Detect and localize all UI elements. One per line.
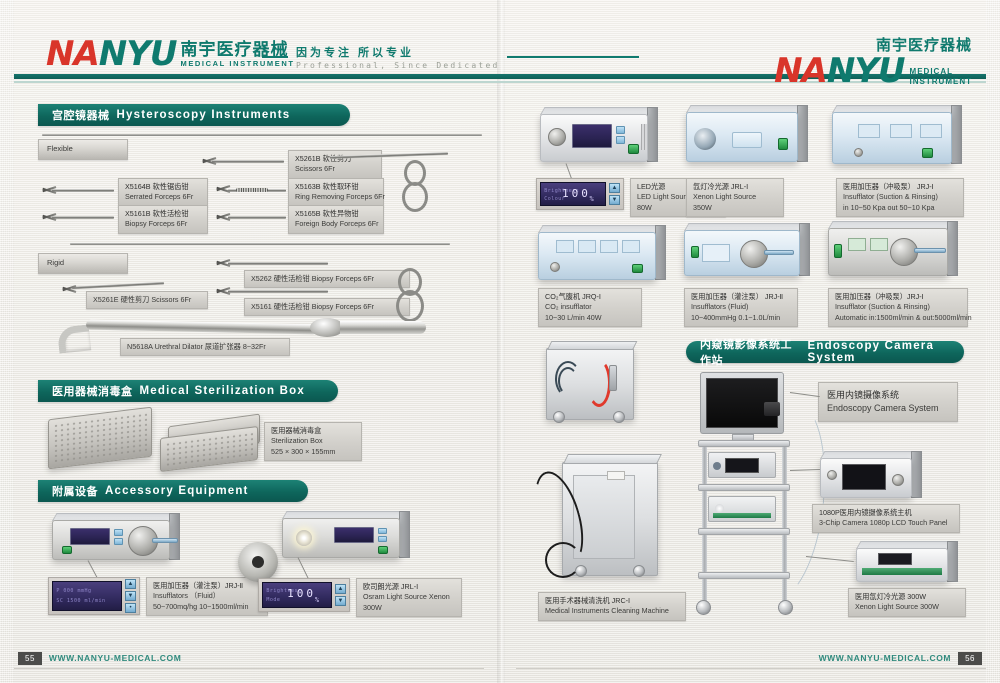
instrument-jaw-biopsy-flex	[42, 212, 56, 222]
device-insufflator-fluid-2	[684, 230, 800, 276]
instrument-shaft-x5262	[228, 262, 328, 265]
footer-rule-left	[14, 668, 484, 669]
sterilization-box-size: 525 × 300 × 155mm	[271, 447, 355, 457]
accessory-label-osram: 欧司朗光源 JRL-Ⅰ Osram Light Source Xenon 300…	[356, 578, 462, 617]
slogan-dash-left	[262, 56, 288, 58]
page-gutter	[497, 0, 505, 683]
product-cn-2: 医用加压器（冲吸泵） JRJ-Ⅰ	[843, 182, 957, 192]
device-port-5	[854, 148, 863, 157]
lcd-button-up-3[interactable]: ▲	[609, 183, 620, 193]
accessory-en-1: Osram Light Source Xenon	[363, 592, 455, 602]
brand-subtitle-line1: MEDICAL	[910, 67, 972, 77]
lcd-value-2: 100	[287, 587, 316, 600]
lcd-buttons-2[interactable]: ▲ ▼	[335, 582, 346, 608]
product-en-6: Medical Instruments Cleaning Machine	[545, 606, 679, 616]
lcd-callout-insufflator: P 000 mmHg SC 1500 ml/min ▲ ▼ •	[48, 577, 140, 615]
instrument-en-4: Foreign Body Forceps 6Fr	[295, 219, 377, 229]
lcd-buttons-3[interactable]: ▲ ▼	[609, 182, 620, 206]
footer-left: 55 WWW.NANYU-MEDICAL.COM	[18, 651, 181, 665]
product-en-3: CO₂ insufflator	[545, 302, 635, 312]
lcd-button-dn-2[interactable]: ▼	[335, 596, 346, 606]
device-side-10	[947, 541, 958, 582]
hose-red	[587, 359, 611, 407]
lcd-screen-3: Brightness Colour 100 %	[540, 182, 606, 206]
machine-caster-1b	[613, 411, 625, 423]
lcd-button-dn-1[interactable]: ▼	[125, 591, 136, 601]
brand-logo-left: NANYU 南宇医疗器械 MEDICAL INSTRUMENT	[46, 38, 295, 70]
hose-black-loop	[545, 542, 581, 578]
website-right[interactable]: WWW.NANYU-MEDICAL.COM	[819, 653, 952, 663]
product-label-insufflator-fluid: 医用加压器（灌注泵） JRJ-Ⅱ Insufflators (Fluid) 10…	[684, 288, 798, 327]
device-lcd-3	[572, 124, 612, 148]
lcd-callout-osram: Brightness Mode 100 % ▲ ▼	[258, 578, 350, 612]
product-en-7: Endoscopy Camera System	[827, 402, 949, 415]
instrument-jaw-x5262	[216, 258, 230, 268]
product-cn-3: CO₂气腹机 JRQ-Ⅰ	[545, 292, 635, 302]
cart-caster-right	[778, 600, 793, 615]
device-power-button-3	[628, 144, 639, 154]
device-display-6d	[622, 240, 640, 253]
product-label-endoscopy-system: 医用内镜摄像系统 Endoscopy Camera System	[818, 382, 958, 422]
category-label-rigid: Rigid	[38, 253, 128, 274]
lcd-line2-2: Mode	[266, 597, 280, 603]
device-power-button-5	[922, 148, 933, 158]
product-spec-3: 10~30 L/min 40W	[545, 313, 635, 323]
instrument-en-0: Scissors 6Fr	[295, 164, 375, 174]
instrument-en-3: Biopsy Forceps 6Fr	[125, 219, 201, 229]
slogan-en: Professional, Since Dedicated	[296, 61, 499, 70]
device-display-8a	[848, 238, 866, 251]
cart-camera-knob	[713, 462, 721, 470]
device-side-6	[655, 225, 666, 280]
device-knob-9	[827, 470, 837, 480]
instrument-jaw-serrated	[42, 185, 56, 195]
device-lcd-1	[70, 528, 110, 545]
device-insufflator-suction-1	[832, 112, 952, 164]
instrument-code-5: X5262	[251, 274, 272, 283]
device-button-2b	[378, 536, 387, 542]
device-display-10	[878, 553, 912, 565]
product-label-xenon-300w: 医用氙灯冷光源 300W Xenon Light Source 300W	[848, 588, 966, 617]
device-side-5	[951, 105, 962, 164]
page-number-left: 55	[18, 652, 42, 665]
brand-subtitle-right: MEDICAL INSTRUMENT	[910, 67, 972, 87]
product-spec-2: in 10~50 Kpa out 50~10 Kpa	[843, 203, 957, 213]
instrument-code-cn-1: X5164B 软性锯齿钳	[125, 182, 201, 192]
instrument-en-2: Ring Removing Forceps 6Fr	[295, 192, 377, 202]
instrument-shaft-rigid-top	[70, 243, 450, 245]
instrument-shaft-scissors	[212, 160, 284, 163]
instrument-en-7: Biopsy Forceps 6Fr	[312, 302, 374, 311]
device-side-1	[169, 513, 180, 560]
instrument-cn-6: 硬性剪刀	[121, 295, 150, 304]
device-light-port-4	[694, 128, 716, 150]
lcd-button-up-2[interactable]: ▲	[335, 584, 346, 594]
device-button-3b	[616, 136, 625, 144]
device-display-5a	[858, 124, 880, 138]
section-title-en-1: Medical Sterilization Box	[140, 385, 305, 397]
accessory-label-insufflator: 医用加压器（灌注泵）JRJ-Ⅱ Insufflators （Fluid） 50~…	[146, 577, 268, 616]
instrument-label-x5163b: X5163B 软性取环钳 Ring Removing Forceps 6Fr	[288, 178, 384, 207]
product-spec-4: 10~400mmHg 0.1~1.0L/min	[691, 313, 791, 323]
device-display-5c	[920, 124, 942, 138]
instrument-shaft-foreign	[228, 216, 286, 219]
footer-rule-right	[516, 668, 986, 669]
instrument-en-8: Urethral Dilator	[155, 342, 203, 351]
tray-perforations-2	[165, 432, 253, 467]
instrument-en-6: Scissors 6Fr	[151, 295, 191, 304]
device-power-button-8	[834, 244, 842, 258]
lcd-button-up-1[interactable]: ▲	[125, 579, 136, 589]
device-panel-4	[732, 132, 762, 148]
machine-top-panel-1	[547, 341, 637, 350]
lcd-unit-2: %	[315, 596, 320, 604]
product-en-9: Xenon Light Source 300W	[855, 602, 959, 612]
section-title-cn-0: 宫腔镜器械	[52, 107, 110, 123]
product-cn-7: 医用内镜摄像系统	[827, 389, 949, 402]
device-insufflator-fluid	[52, 520, 170, 560]
instrument-cn-7: 硬性活检钳	[274, 302, 310, 311]
device-panel-7	[702, 244, 730, 262]
product-label-1080p-camera: 1080P医用内镜摄像系统主机 3-Chip Camera 1080p LCD …	[812, 504, 960, 533]
instrument-jaw-scissors	[202, 156, 216, 166]
product-spec-1: 350W	[693, 203, 777, 213]
lcd-callout-led: Brightness Colour 100 % ▲ ▼	[536, 178, 624, 210]
device-side-3	[647, 107, 658, 162]
section-title-en-3: Endoscopy Camera System	[808, 340, 965, 364]
instrument-label-n5618a: N5618A Urethral Dilator 尿道扩张器 8~32Fr	[120, 338, 290, 356]
instrument-shaft-biopsy-flex	[52, 216, 114, 219]
product-en-5: Insufflator (Suction & Rinsing)	[835, 302, 961, 312]
device-display-5b	[890, 124, 912, 138]
instrument-code-6: X5261E	[93, 295, 119, 304]
section-title-en-0: Hysteroscopy Instruments	[117, 109, 291, 121]
instrument-en-1: Serrated Forceps 6Fr	[125, 192, 201, 202]
instrument-shaft-x5161	[228, 290, 328, 293]
lcd-line2-1: SC 1500 ml/min	[56, 598, 105, 604]
section-banner-endoscopy: 内窥镜影像系统工作站 Endoscopy Camera System	[686, 341, 964, 363]
instrument-handle-ring-4	[396, 290, 424, 322]
cart-caster-left	[696, 600, 711, 615]
brand-slogan: 因为专注 所以专业 Professional, Since Dedicated	[262, 44, 639, 70]
device-1080p-camera	[820, 458, 912, 498]
device-led-light-source	[540, 114, 648, 162]
accessory-en-0: Insufflators （Fluid）	[153, 591, 261, 601]
lcd-screen-1: P 000 mmHg SC 1500 ml/min	[52, 581, 122, 611]
device-tubing-8	[914, 248, 946, 253]
light-guide-adapter	[238, 542, 278, 582]
section-title-cn-2: 附属设备	[52, 483, 98, 499]
lcd-screen-2: Brightness Mode 100 %	[262, 582, 332, 608]
sterilization-box-cn: 医用器械消毒盒	[271, 426, 355, 436]
product-en-1: Xenon Light Source	[693, 192, 777, 202]
device-side-8	[947, 221, 958, 276]
device-connector-9	[892, 474, 904, 486]
instrument-label-x5165b: X5165B 软性异物钳 Foreign Body Forceps 6Fr	[288, 205, 384, 234]
machine-cleaning-top	[546, 348, 634, 420]
tray-perforations-1	[53, 412, 147, 464]
instrument-code-7: X5161	[251, 302, 272, 311]
lcd-line1-1: P 000 mmHg	[56, 588, 91, 594]
section-title-cn-1: 医用器械消毒盒	[52, 383, 133, 399]
product-en-4: Insufflators (Fluid)	[691, 302, 791, 312]
sterilization-box-label: 医用器械消毒盒 Sterilization Box 525 × 300 × 15…	[264, 422, 362, 461]
device-touch-panel-9	[842, 464, 886, 490]
lcd-button-dn-3[interactable]: ▼	[609, 195, 620, 205]
device-side-7	[799, 223, 810, 276]
hose-coiled-grey-2	[558, 367, 578, 395]
device-osram-light-source	[282, 518, 400, 558]
instrument-handle-ring-2	[402, 182, 428, 212]
product-cn-4: 医用加压器（灌注泵） JRJ-Ⅱ	[691, 292, 791, 302]
website-left[interactable]: WWW.NANYU-MEDICAL.COM	[49, 653, 182, 663]
instrument-label-x5262: X5262 硬性活检钳 Biopsy Forceps 6Fr	[244, 270, 410, 288]
device-power-button-7	[691, 246, 699, 258]
product-en-8: 3-Chip Camera 1080p LCD Touch Panel	[819, 518, 953, 528]
brand-wordmark-right: NANYU	[774, 55, 904, 87]
device-side-2	[399, 511, 410, 558]
section-banner-accessory: 附属设备 Accessory Equipment	[38, 480, 308, 502]
device-power-button-2	[378, 546, 388, 554]
sterilization-box-en: Sterilization Box	[271, 436, 355, 446]
product-label-insufflator-suction-1: 医用加压器（冲吸泵） JRJ-Ⅰ Insufflator (Suction & …	[836, 178, 964, 217]
device-co2-insufflator	[538, 232, 656, 280]
product-label-insufflator-suction-2: 医用加压器（冲吸泵）JRJ-Ⅰ Insufflator (Suction & R…	[828, 288, 968, 327]
device-button-1b	[114, 538, 123, 545]
device-vent-3	[641, 124, 647, 150]
device-port-6	[550, 262, 560, 272]
category-label-flexible: Flexible	[38, 139, 128, 160]
device-indicator-10	[862, 568, 942, 575]
accessory-spec-1: 300W	[363, 603, 455, 613]
device-power-button-4	[778, 138, 788, 150]
product-cn-9: 医用氙灯冷光源 300W	[855, 592, 959, 602]
light-guide-bore	[252, 556, 264, 568]
instrument-jaw-ring	[216, 184, 230, 194]
instrument-jaw-x5161	[216, 286, 230, 296]
section-banner-hysteroscopy: 宫腔镜器械 Hysteroscopy Instruments	[38, 104, 350, 126]
instrument-cn-5: 硬性活检钳	[274, 274, 310, 283]
instrument-code-8: N5618A	[127, 342, 153, 351]
device-tubing-1	[152, 538, 178, 543]
device-xenon-300w	[856, 548, 948, 582]
device-light-port-2	[296, 530, 312, 546]
device-button-2a	[378, 528, 387, 534]
slogan-dash-right	[507, 56, 639, 58]
device-insufflator-suction-2	[828, 228, 948, 276]
product-label-cleaning-machine: 医用手术器械清洗机 JRC-Ⅰ Medical Instruments Clea…	[538, 592, 686, 621]
device-button-3a	[616, 126, 625, 134]
instrument-shaft-serrated	[52, 189, 114, 192]
device-power-button-1	[62, 546, 72, 554]
device-knob-3	[548, 128, 566, 146]
instrument-label-x5164b: X5164B 软性锯齿钳 Serrated Forceps 6Fr	[118, 178, 208, 207]
product-cn-6: 医用手术器械清洗机 JRC-Ⅰ	[545, 596, 679, 606]
machine-caster-1a	[553, 411, 565, 423]
product-cn-5: 医用加压器（冲吸泵）JRJ-Ⅰ	[835, 292, 961, 302]
instrument-jaw-foreign	[216, 212, 230, 222]
instrument-code-cn-4: X5165B 软性异物钳	[295, 209, 377, 219]
device-xenon-light-source	[686, 112, 798, 162]
device-power-button-6	[632, 264, 643, 273]
device-lcd-2	[334, 527, 374, 543]
device-side-4	[797, 105, 808, 162]
device-tubing-7	[764, 250, 794, 255]
product-en-2: Insufflator (Suction & Rinsing)	[843, 192, 957, 202]
lcd-button-set-1[interactable]: •	[125, 603, 136, 613]
product-cn-8: 1080P医用内镜摄像系统主机	[819, 508, 953, 518]
slogan-cn: 因为专注 所以专业	[296, 44, 499, 60]
instrument-label-x5161b: X5161B 软性活检钳 Biopsy Forceps 6Fr	[118, 205, 208, 234]
instrument-label-x5261e: X5261E 硬性剪刀 Scissors 6Fr	[86, 291, 208, 309]
device-body-5	[832, 112, 952, 164]
instrument-shaft-top	[42, 134, 482, 136]
cart-light-port	[715, 504, 724, 513]
brand-wordmark: NANYU	[46, 38, 176, 70]
product-spec-5: Automatic in:1500ml/min & out:5000ml/min	[835, 313, 961, 323]
instrument-code-cn-3: X5161B 软性活检钳	[125, 209, 201, 219]
product-cn-1: 氙灯冷光源 JRL-Ⅰ	[693, 182, 777, 192]
machine-top-panel-2	[563, 454, 662, 464]
brand-subtitle-line2: INSTRUMENT	[910, 77, 972, 87]
brand-logo-right: 南宇医疗器械 NANYU MEDICAL INSTRUMENT	[774, 34, 972, 87]
accessory-cn-0: 医用加压器（灌注泵）JRJ-Ⅱ	[153, 581, 261, 591]
device-side-9	[911, 451, 922, 498]
instrument-en-5: Biopsy Forceps 6Fr	[312, 274, 374, 283]
device-display-6c	[600, 240, 618, 253]
page-number-right: 56	[958, 652, 982, 665]
instrument-code-cn-2: X5163B 软性取环钳	[295, 182, 377, 192]
product-label-xenon: 氙灯冷光源 JRL-Ⅰ Xenon Light Source 350W	[686, 178, 784, 217]
accessory-cn-1: 欧司朗光源 JRL-Ⅰ	[363, 582, 455, 592]
device-display-6a	[556, 240, 574, 253]
section-title-cn-3: 内窥镜影像系统工作站	[700, 336, 801, 368]
lcd-buttons-1[interactable]: ▲ ▼ •	[125, 581, 136, 611]
spray-gun	[609, 365, 617, 391]
device-button-1a	[114, 529, 123, 536]
catalog-spread: NANYU 南宇医疗器械 MEDICAL INSTRUMENT 因为专注 所以专…	[0, 0, 1000, 683]
accessory-spec-0: 50~700mq/hg 10~1500ml/min	[153, 602, 261, 612]
instrument-jaw-x5261e	[62, 284, 76, 294]
section-banner-sterilization: 医用器械消毒盒 Medical Sterilization Box	[38, 380, 338, 402]
device-display-8b	[870, 238, 888, 251]
section-title-en-2: Accessory Equipment	[105, 485, 249, 497]
machine-caster-2b	[633, 565, 645, 577]
device-display-6b	[578, 240, 596, 253]
product-label-co2: CO₂气腹机 JRQ-Ⅰ CO₂ insufflator 10~30 L/min…	[538, 288, 642, 327]
footer-right: WWW.NANYU-MEDICAL.COM 56	[819, 651, 982, 665]
lcd-value-3: 100	[562, 187, 591, 200]
instrument-cn-8: 尿道扩张器 8~32Fr	[205, 342, 266, 351]
lcd-unit-3: %	[590, 195, 595, 203]
instrument-coil-ring	[236, 188, 268, 192]
cart-post-left	[702, 440, 707, 604]
machine-label-plate	[607, 471, 625, 480]
